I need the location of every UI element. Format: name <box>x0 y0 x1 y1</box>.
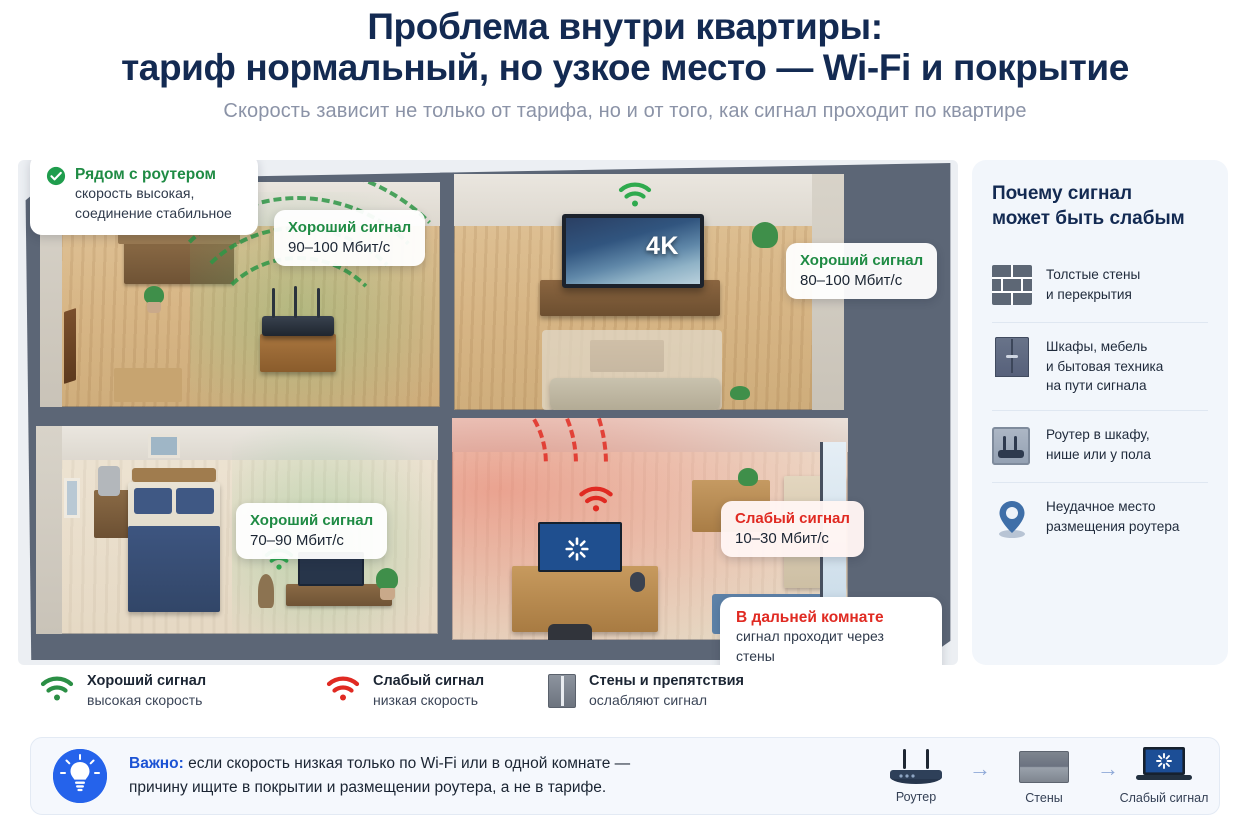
wall-vertical-top <box>440 168 454 414</box>
why-weak-signal-panel: Почему сигнал может быть слабым Толстые … <box>972 160 1228 665</box>
bricks-wall-icon <box>992 265 1032 307</box>
desk-furniture <box>286 584 392 606</box>
side-panel-item-line2: размещения роутера <box>1046 517 1179 536</box>
flow-step-caption: Стены <box>1005 791 1083 807</box>
side-panel-list: Толстые стены и перекрытия Шкафы, мебель… <box>992 251 1208 554</box>
speed-label-title: Хороший сигнал <box>800 251 923 271</box>
flow-arrow-icon-2: → <box>1097 758 1119 794</box>
flow-step-caption: Слабый сигнал <box>1118 791 1210 807</box>
signal-flow-diagram: Роутер → Стены → <box>877 745 1195 807</box>
sofa-furniture <box>550 378 720 410</box>
router-in-box-icon <box>992 425 1032 467</box>
legend-item-title: Слабый сигнал <box>373 672 484 691</box>
flow-step-weak-signal: Слабый сигнал <box>1133 745 1195 807</box>
plant-pot <box>147 302 161 313</box>
chair-icon <box>548 624 592 640</box>
legend: Хороший сигнал высокая скорость Слабый с… <box>40 672 744 710</box>
side-panel-item-furniture: Шкафы, мебель и бытовая техника на пути … <box>992 322 1208 410</box>
near-router-line2: соединение стабильное <box>75 204 232 223</box>
side-panel-item-line2: нише или у пола <box>1046 445 1151 464</box>
bed-pillow-1 <box>134 488 172 514</box>
plant-icon <box>376 568 398 590</box>
cabinet-icon <box>992 337 1032 379</box>
flow-step-router: Роутер <box>877 746 955 806</box>
door-icon <box>64 308 76 384</box>
legend-item-walls: Стены и препятствия ослабляют сигнал <box>548 672 744 710</box>
speed-label-title: Хороший сигнал <box>288 218 411 238</box>
important-note-bar: Важно: если скорость низкая только по Wi… <box>30 737 1220 815</box>
legend-item-weak-signal: Слабый сигнал низкая скорость <box>326 672 548 710</box>
important-note-strong: Важно: <box>129 755 184 772</box>
plant-small-icon <box>730 386 750 400</box>
far-room-line1: сигнал проходит через стены <box>736 627 926 665</box>
flow-step-walls: Стены <box>1005 745 1083 807</box>
page-title-line2: тариф нормальный, но узкое место — Wi-Fi… <box>0 47 1250 88</box>
wall-picture-small <box>64 478 80 518</box>
infographic-page: Проблема внутри квартиры: тариф нормальн… <box>0 0 1250 833</box>
side-panel-item-line1: Шкафы, мебель <box>1046 337 1163 356</box>
legend-item-good-signal: Хороший сигнал высокая скорость <box>40 672 326 710</box>
legend-item-title: Стены и препятствия <box>589 672 744 691</box>
nightstand-furniture <box>94 490 130 538</box>
wall-picture <box>148 434 180 458</box>
loading-spinner-icon <box>564 536 590 562</box>
speed-label-value: 90–100 Мбит/с <box>288 238 411 258</box>
speed-label-bedroom: Хороший сигнал 70–90 Мбит/с <box>236 503 387 559</box>
router-antenna-2 <box>294 286 297 318</box>
side-panel-item-line1: Неудачное место <box>1046 497 1179 516</box>
far-room-title: В дальней комнате <box>736 608 926 627</box>
wall-icon <box>1019 751 1069 783</box>
doormat <box>114 368 182 402</box>
speed-label-living-room: Хороший сигнал 90–100 Мбит/с <box>274 210 425 266</box>
important-note-line2: причину ищите в покрытии и размещении ро… <box>129 776 630 800</box>
plant-icon <box>738 468 758 486</box>
legend-item-sub: ослабляют сигнал <box>589 691 744 710</box>
wall-icon <box>548 674 576 708</box>
important-note-text: Важно: если скорость низкая только по Wi… <box>129 752 630 801</box>
speed-label-value: 70–90 Мбит/с <box>250 531 373 551</box>
page-title-line1: Проблема внутри квартиры: <box>0 6 1250 47</box>
side-panel-title-line2: может быть слабым <box>992 207 1208 232</box>
check-circle-icon <box>46 166 66 186</box>
important-note-line1: если скорость низкая только по Wi-Fi или… <box>184 755 630 772</box>
legend-item-title: Хороший сигнал <box>87 672 206 691</box>
wifi-red-icon <box>578 486 614 513</box>
side-panel-item-line2: и перекрытия <box>1046 285 1140 304</box>
floorplan-illustration: 4K <box>18 160 958 665</box>
side-panel-item-bad-location: Неудачное место размещения роутера <box>992 482 1208 554</box>
near-router-title: Рядом с роутером <box>75 165 232 184</box>
wifi-green-icon <box>40 675 74 703</box>
router-icon <box>262 316 334 336</box>
legend-item-sub: высокая скорость <box>87 691 206 710</box>
speed-label-value: 80–100 Мбит/с <box>800 271 923 291</box>
wifi-red-icon <box>326 675 360 703</box>
map-pin-icon <box>992 497 1032 539</box>
wifi-green-icon <box>618 182 652 208</box>
router-stand <box>260 334 336 372</box>
far-room-callout: В дальней комнате сигнал проходит через … <box>720 597 942 665</box>
speed-label-title: Слабый сигнал <box>735 509 850 529</box>
room-tv: 4K <box>454 174 844 410</box>
router-antenna-1 <box>272 288 275 318</box>
floor-lamp-icon <box>258 574 274 608</box>
mouse-icon <box>630 572 645 592</box>
speed-label-title: Хороший сигнал <box>250 511 373 531</box>
bed-pillow-2 <box>176 488 214 514</box>
speed-label-tv-room: Хороший сигнал 80–100 Мбит/с <box>786 243 937 299</box>
side-panel-item-walls: Толстые стены и перекрытия <box>992 251 1208 322</box>
flow-arrow-icon: → <box>969 758 991 794</box>
flow-step-caption: Роутер <box>877 790 955 806</box>
legend-item-sub: низкая скорость <box>373 691 484 710</box>
plant-pot <box>380 588 395 600</box>
tv-icon <box>562 214 704 288</box>
plant-icon <box>752 222 778 248</box>
page-header: Проблема внутри квартиры: тариф нормальн… <box>0 6 1250 123</box>
side-panel-item-line3: на пути сигнала <box>1046 376 1163 395</box>
speed-label-office: Слабый сигнал 10–30 Мбит/с <box>721 501 864 557</box>
near-router-callout: Рядом с роутером скорость высокая, соеди… <box>30 160 258 235</box>
page-subtitle: Скорость зависит не только от тарифа, но… <box>0 100 1250 123</box>
router-antenna-3 <box>317 288 320 318</box>
bed-duvet <box>128 526 220 612</box>
wall-vertical-bottom <box>438 418 452 640</box>
tv-4k-badge: 4K <box>646 232 679 261</box>
side-panel-item-router-placement: Роутер в шкафу, нише или у пола <box>992 410 1208 482</box>
side-panel-item-line2: и бытовая техника <box>1046 357 1163 376</box>
sideboard-furniture <box>124 240 234 284</box>
lamp-icon <box>98 466 120 496</box>
side-panel-item-line1: Толстые стены <box>1046 265 1140 284</box>
apartment-shell: 4K <box>20 160 956 663</box>
lightbulb-icon <box>53 749 107 803</box>
side-panel-title-line1: Почему сигнал <box>992 182 1208 207</box>
bed-headboard <box>132 468 216 482</box>
speed-label-value: 10–30 Мбит/с <box>735 529 850 549</box>
near-router-line1: скорость высокая, <box>75 184 232 203</box>
side-panel-item-line1: Роутер в шкафу, <box>1046 425 1151 444</box>
